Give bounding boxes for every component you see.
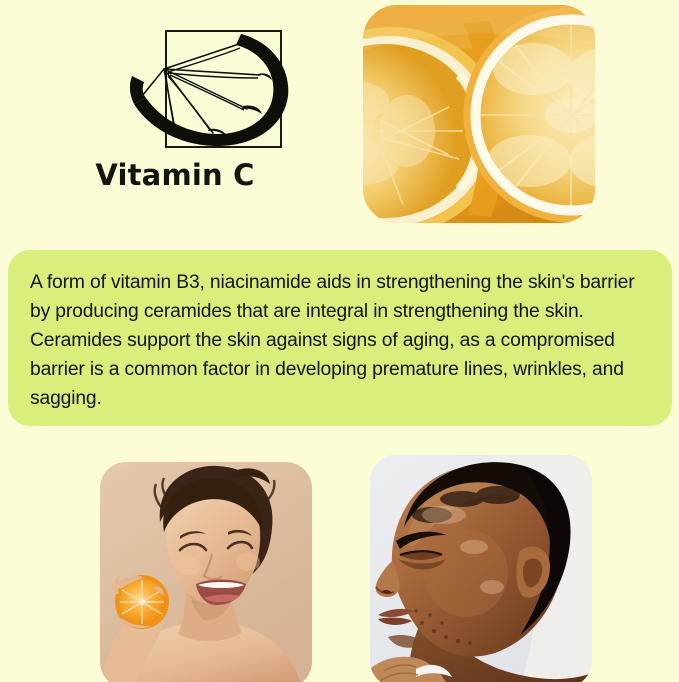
- page-title: Vitamin C: [0, 158, 350, 192]
- info-panel-body: A form of vitamin B3, niacinamide aids i…: [30, 268, 650, 413]
- infographic-page: Vitamin C: [0, 0, 679, 682]
- info-panel: A form of vitamin B3, niacinamide aids i…: [8, 250, 672, 426]
- man-profile-photo: [370, 455, 592, 682]
- lemon-hero-image: [363, 5, 595, 223]
- vitamin-c-logo-block: Vitamin C: [0, 0, 350, 240]
- lemon-wedge-icon: [120, 28, 300, 150]
- woman-with-orange-photo: [100, 462, 312, 682]
